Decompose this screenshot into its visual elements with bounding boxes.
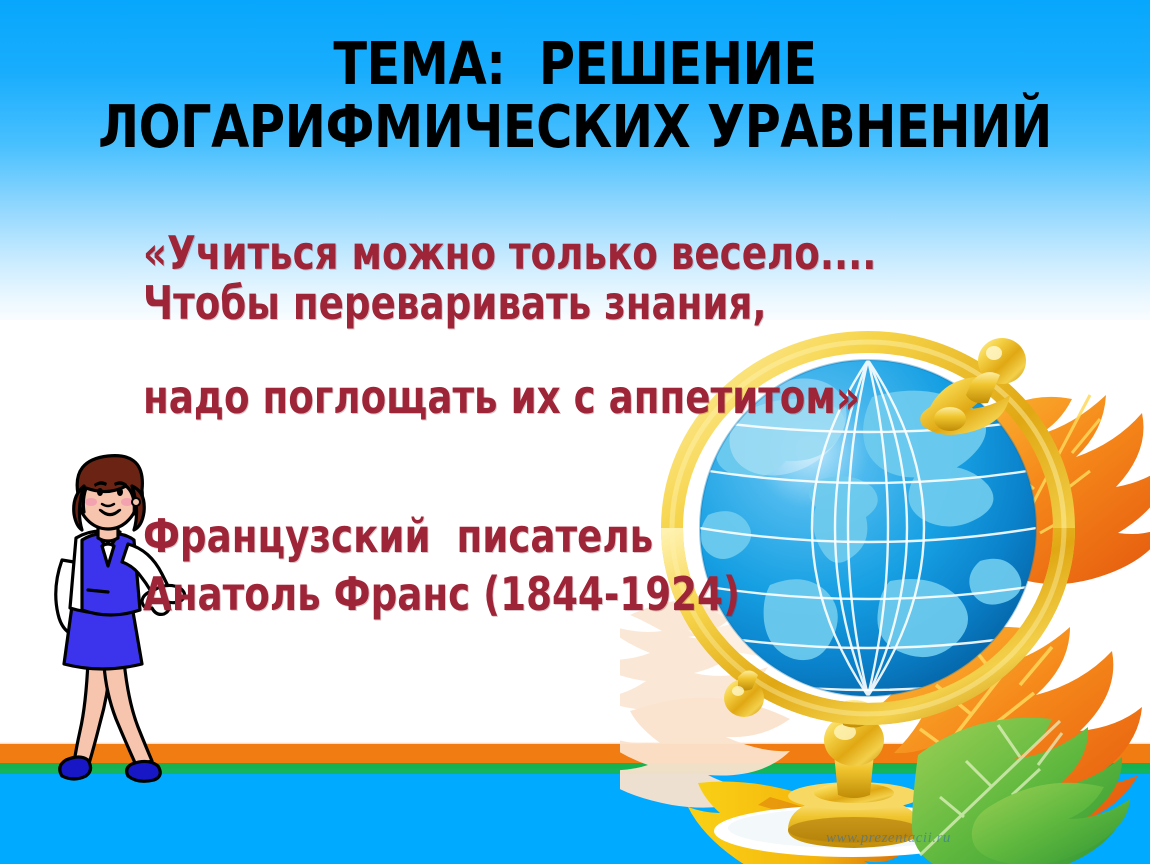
source-watermark: www.prezentacii.ru — [826, 830, 951, 847]
quote-line-1: «Учиться можно только весело.... — [143, 228, 917, 278]
quote-block: «Учиться можно только весело.... Чтобы п… — [143, 228, 917, 422]
attribution-block: Французский писатель Анатоль Франс (1844… — [143, 507, 917, 623]
quote-line-3: надо поглощать их с аппетитом» — [143, 372, 917, 422]
quote-spacer — [143, 328, 917, 372]
presentation-slide: ТЕМА: РЕШЕНИЕ ЛОГАРИФМИЧЕСКИХ УРАВНЕНИЙ … — [0, 0, 1150, 864]
page-title: ТЕМА: РЕШЕНИЕ ЛОГАРИФМИЧЕСКИХ УРАВНЕНИЙ — [96, 32, 1054, 158]
quote-line-2: Чтобы переваривать знания, — [143, 278, 917, 328]
attribution-line-2: Анатоль Франс (1844-1924) — [143, 565, 917, 623]
attribution-line-1: Французский писатель — [143, 507, 917, 565]
